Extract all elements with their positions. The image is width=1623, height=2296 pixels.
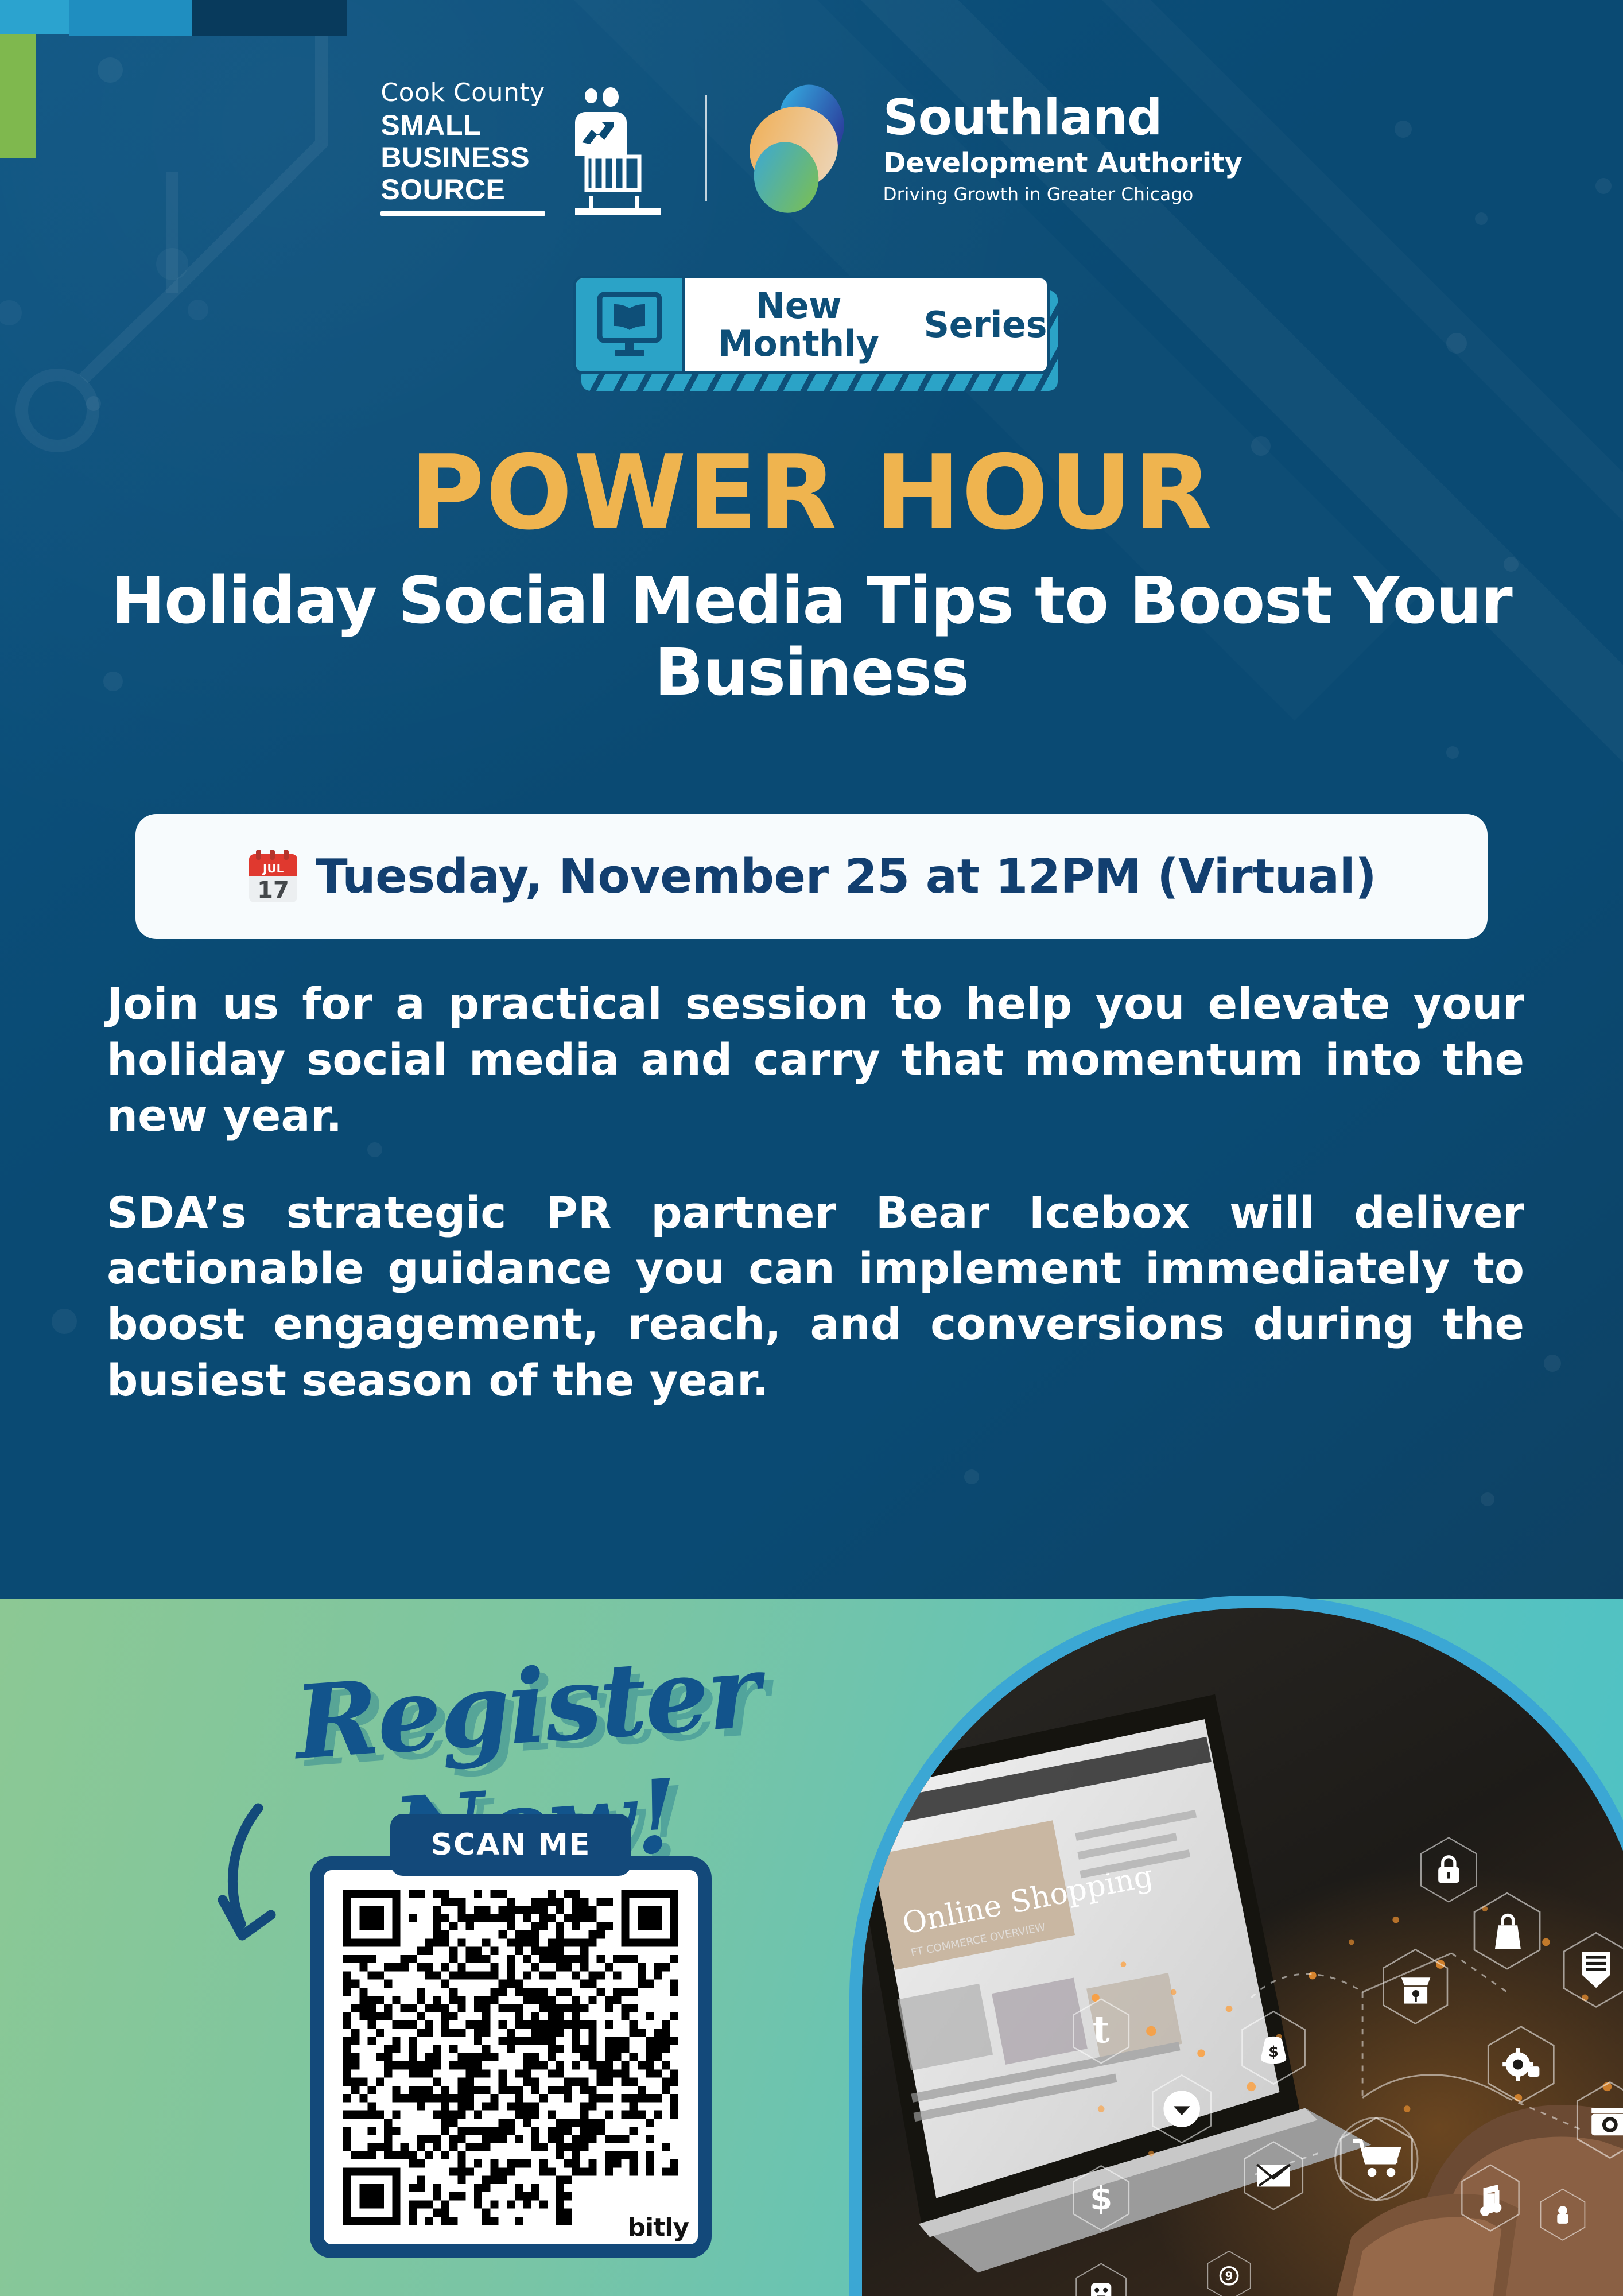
event-date-pill: JUL 17 Tuesday, November 25 at 12PM (Vir…: [135, 814, 1488, 939]
badge-label-line2: Series: [924, 306, 1047, 344]
series-badge: New Monthly Series: [573, 276, 1050, 374]
badge-icon-panel: [576, 278, 685, 371]
sda-subname: Development Authority: [883, 149, 1243, 177]
corner-block-cyan: [0, 0, 69, 34]
qr-frame[interactable]: bitly: [310, 1856, 712, 2258]
page-title: POWER HOUR: [0, 442, 1623, 544]
photo-arch-frame: Online Shopping FT COMMERCE OVERVIEW: [849, 1596, 1623, 2296]
corner-block-blue: [69, 0, 192, 36]
photo-artwork: Online Shopping FT COMMERCE OVERVIEW: [862, 1608, 1623, 2296]
sda-logo: Southland Development Authority Driving …: [733, 81, 1243, 216]
bokeh-dot: [964, 1469, 979, 1484]
page-subtitle: Holiday Social Media Tips to Boost Your …: [92, 565, 1531, 709]
sbs-line-small: SMALL: [380, 109, 545, 141]
badge-label-line1: New Monthly: [685, 287, 911, 363]
calendar-day-label: 17: [257, 877, 289, 903]
body-paragraph-1: Join us for a practical session to help …: [107, 976, 1524, 1143]
sbs-underline: [380, 211, 545, 216]
sbs-line-source: SOURCE: [380, 173, 545, 205]
corner-block-navy: [192, 0, 347, 36]
svg-text:9: 9: [1225, 2270, 1233, 2283]
logo-header: Cook County SMALL BUSINESS SOURCE: [0, 80, 1623, 216]
body-copy: Join us for a practical session to help …: [107, 976, 1524, 1408]
svg-text:t: t: [1093, 2008, 1110, 2051]
body-paragraph-2: SDA’s strategic PR partner Bear Icebox w…: [107, 1185, 1524, 1408]
bokeh-dot: [1544, 1355, 1561, 1372]
qr-code[interactable]: [343, 1890, 678, 2225]
qr-block[interactable]: SCAN ME bitly: [310, 1814, 712, 2258]
series-badge-wrap: New Monthly Series: [0, 276, 1623, 374]
bokeh-dot: [52, 1309, 77, 1334]
svg-text:$: $: [1090, 2180, 1112, 2217]
event-date-text: Tuesday, November 25 at 12PM (Virtual): [316, 850, 1376, 904]
sbs-line-business: BUSINESS: [380, 141, 545, 173]
calendar-icon: JUL 17: [247, 848, 300, 905]
qr-brand-label: bitly: [628, 2213, 689, 2242]
bokeh-dot: [98, 57, 123, 83]
sbs-wordmark: Cook County SMALL BUSINESS SOURCE: [380, 80, 545, 216]
sda-tagline: Driving Growth in Greater Chicago: [883, 186, 1243, 204]
badge-body: New Monthly Series: [573, 276, 1050, 374]
storefront-vendor-icon: [558, 87, 678, 216]
cook-county-sbs-logo: Cook County SMALL BUSINESS SOURCE: [380, 80, 678, 216]
sbs-line-cook-county: Cook County: [380, 80, 545, 106]
bokeh-dot: [86, 396, 101, 411]
logo-divider: [705, 95, 707, 201]
calendar-month-label: JUL: [262, 862, 284, 875]
flyer-page: Cook County SMALL BUSINESS SOURCE: [0, 0, 1623, 2296]
bokeh-dot: [1446, 746, 1459, 759]
badge-label: New Monthly Series: [685, 278, 1047, 371]
sda-swirl-logo-icon: [733, 81, 868, 216]
scan-me-label: SCAN ME: [390, 1814, 631, 1876]
svg-text:$: $: [1268, 2043, 1279, 2061]
sda-name: Southland: [883, 93, 1243, 142]
laptop-online-shopping-photo: Online Shopping FT COMMERCE OVERVIEW: [832, 1544, 1623, 2296]
sda-wordmark: Southland Development Authority Driving …: [883, 93, 1243, 204]
monitor-book-icon: [595, 291, 664, 359]
bokeh-dot: [1481, 1492, 1494, 1506]
